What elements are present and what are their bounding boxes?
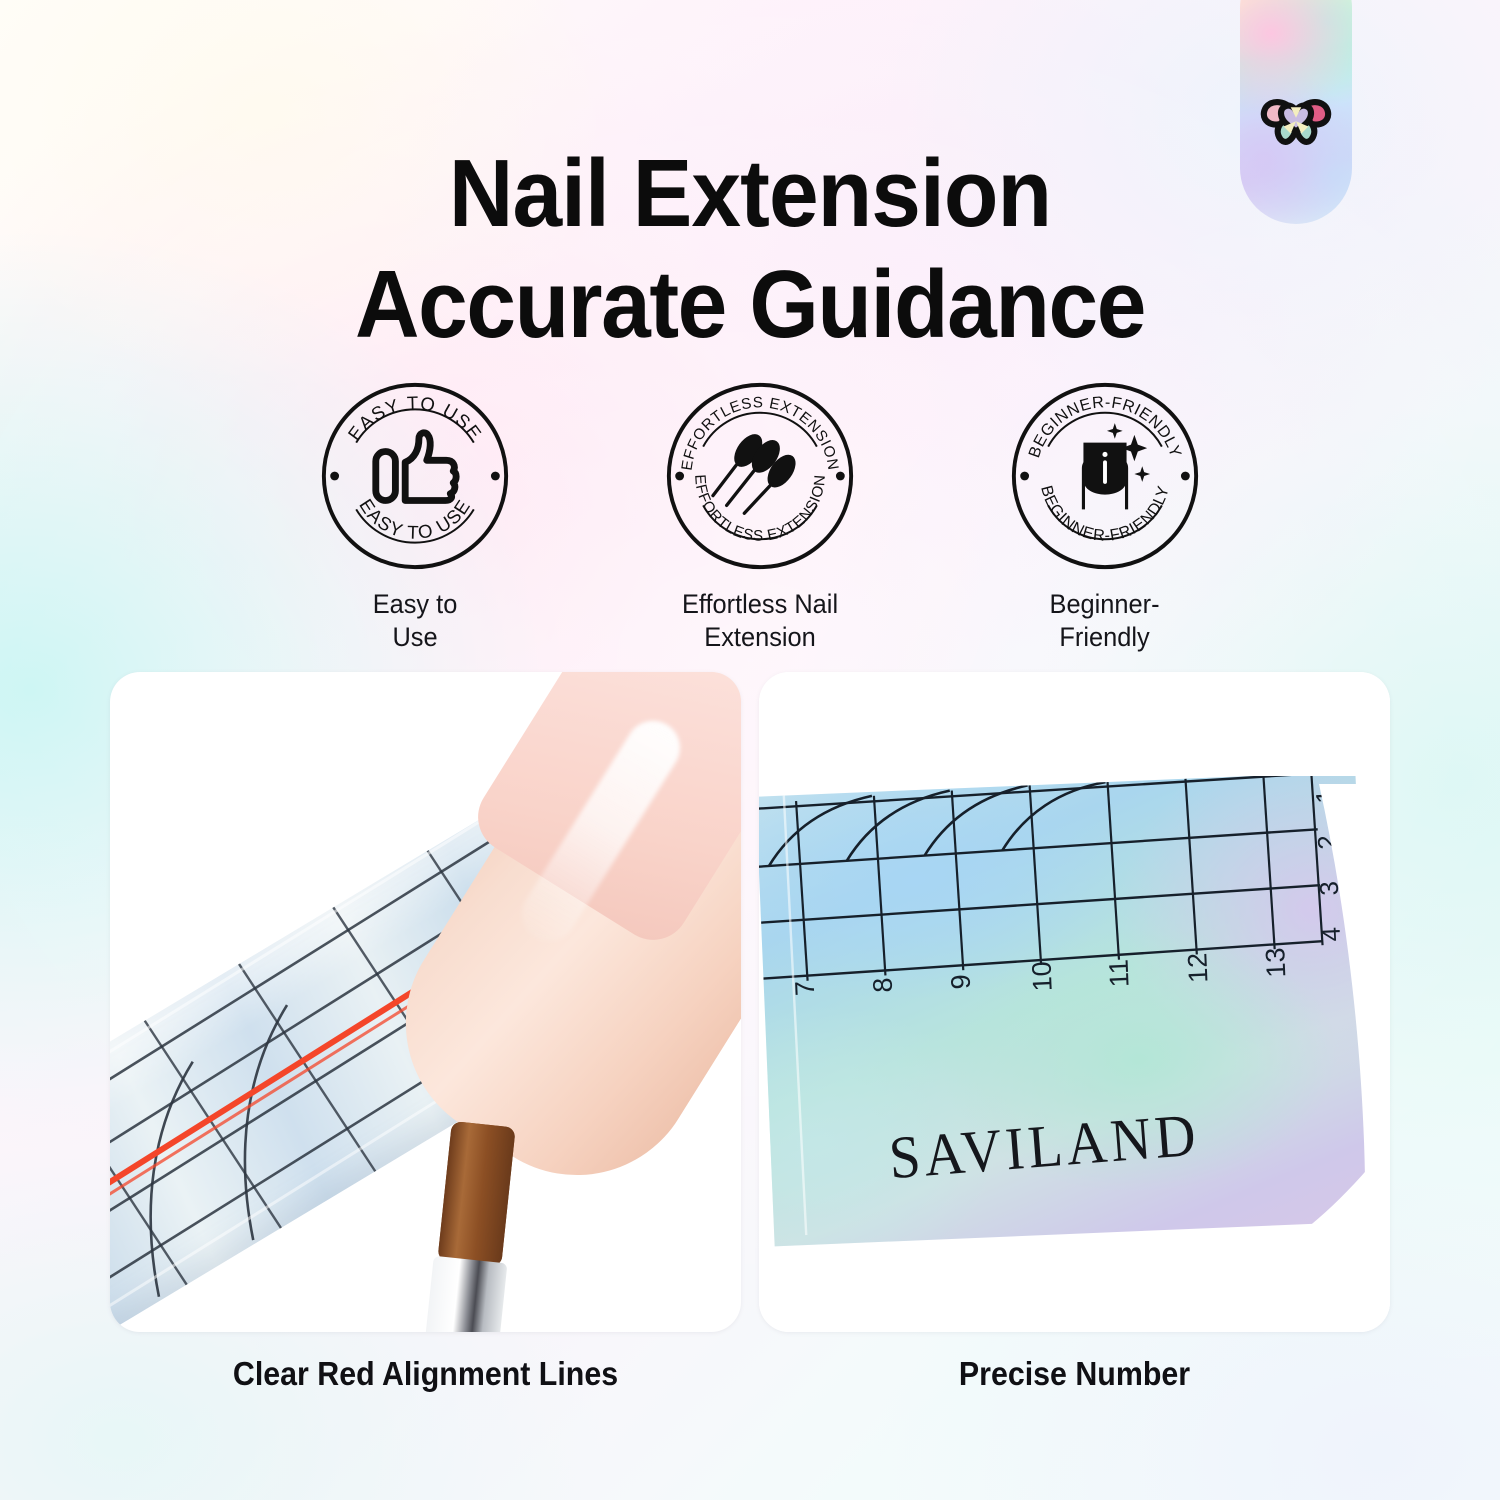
thumbs-up-icon	[376, 433, 456, 501]
badge-beginner-friendly: BEGINNER-FRIENDLY BEGINNER-FRIENDLY Begi…	[990, 378, 1220, 655]
nail-extension-icon	[713, 429, 801, 513]
seal-dot-right	[491, 472, 500, 481]
seal-dot-right	[1181, 472, 1190, 481]
seal-dot-left	[675, 472, 684, 481]
badge-caption-easy-to-use: Easy to Use	[373, 588, 458, 655]
caption-line-1: Beginner-	[1050, 589, 1160, 619]
seal-dot-left	[330, 472, 339, 481]
badge-effortless-extension: EFFORTLESS EXTENSION EFFORTLESS EXTENSIO…	[645, 378, 875, 655]
gel-brush	[110, 672, 741, 1332]
caption-line-2: Extension	[704, 622, 815, 652]
page-title: Nail Extension Accurate Guidance	[53, 138, 1448, 361]
headline-line-1: Nail Extension	[449, 140, 1051, 247]
easy-to-use-seal: EASY TO USE EASY TO USE	[317, 378, 513, 574]
seal-dot-right	[836, 472, 845, 481]
product-photo-cards: 7 8 9 10 11 12 13 1 2 3 4	[110, 672, 1390, 1332]
caption-clear-red-alignment-lines: Clear Red Alignment Lines	[135, 1355, 716, 1393]
caption-line-2: Use	[392, 622, 437, 652]
feature-badges: EASY TO USE EASY TO USE Easy to Use	[300, 378, 1220, 655]
caption-precise-number: Precise Number	[784, 1355, 1365, 1393]
headline-line-2: Accurate Guidance	[53, 249, 1448, 360]
badge-caption-beginner-friendly: Beginner- Friendly	[1050, 588, 1160, 655]
finger-sparkle-icon	[1083, 423, 1150, 509]
caption-line-2: Friendly	[1060, 622, 1150, 652]
effortless-extension-seal: EFFORTLESS EXTENSION EFFORTLESS EXTENSIO…	[662, 378, 858, 574]
seal-dot-left	[1020, 472, 1029, 481]
seal-text-bottom: EFFORTLESS EXTENSION	[691, 474, 829, 545]
badge-easy-to-use: EASY TO USE EASY TO USE Easy to Use	[300, 378, 530, 655]
caption-line-1: Effortless Nail	[682, 589, 838, 619]
svg-text:EFFORTLESS EXTENSION: EFFORTLESS EXTENSION	[691, 474, 829, 545]
nail-form-ruler-numbers-photo: 7 8 9 10 11 12 13 1 2 3 4	[759, 672, 1390, 1332]
nail-form-red-alignment-line-photo	[110, 672, 741, 1332]
caption-line-1: Easy to	[373, 589, 458, 619]
badge-caption-effortless-extension: Effortless Nail Extension	[682, 588, 838, 655]
form-bottom-mask	[759, 672, 1390, 1332]
beginner-friendly-seal: BEGINNER-FRIENDLY BEGINNER-FRIENDLY	[1007, 378, 1203, 574]
photo-card-captions: Clear Red Alignment Lines Precise Number	[110, 1355, 1390, 1393]
